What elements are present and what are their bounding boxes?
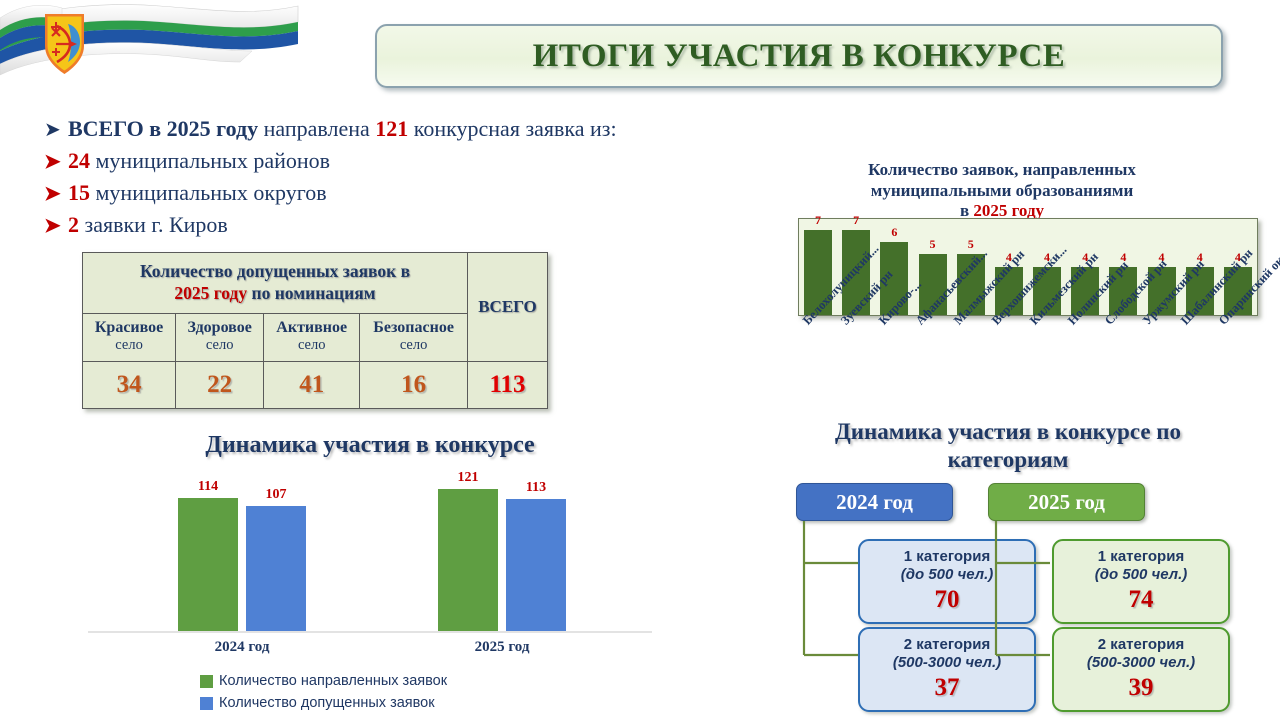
bullet-arrow-icon: ➤ bbox=[44, 152, 68, 172]
chart-bar: 113 bbox=[506, 499, 566, 631]
municipalities-chart-xaxis: Белохолуницкий...Зуевский рнКирово-...Аф… bbox=[798, 318, 1268, 418]
nomination-sub: село bbox=[364, 337, 463, 354]
chart-bar: 107 bbox=[246, 506, 306, 631]
bullet-segment: направлена bbox=[264, 116, 376, 141]
category-value: 70 bbox=[866, 585, 1028, 615]
bar-value-label: 5 bbox=[930, 237, 936, 254]
category-box[interactable]: 1 категория(до 500 чел.)74 bbox=[1052, 539, 1230, 624]
table-total-value: 113 bbox=[468, 361, 548, 408]
category-column: 2025 год1 категория(до 500 чел.)742 кате… bbox=[984, 483, 1224, 521]
category-box[interactable]: 2 категория(500-3000 чел.)37 bbox=[858, 627, 1036, 712]
flag-ribbon-decoration bbox=[0, 0, 300, 95]
category-range: (до 500 чел.) bbox=[1060, 566, 1222, 584]
nomination-name: Активное bbox=[268, 319, 355, 337]
nomination-name: Красивое bbox=[87, 319, 171, 337]
categories-columns: 2024 год1 категория(до 500 чел.)702 кате… bbox=[752, 483, 1264, 713]
municipalities-chart-title: Количество заявок, направленных муниципа… bbox=[802, 160, 1202, 222]
bar-value-label: 6 bbox=[891, 225, 897, 242]
dynamics-chart-xaxis: 2024 год2025 год bbox=[88, 639, 652, 665]
bullet-item: ➤ВСЕГО в 2025 году направлена 121 конкур… bbox=[44, 114, 744, 143]
bullet-segment: муниципальных районов bbox=[90, 148, 330, 173]
bar-value-label: 113 bbox=[506, 480, 566, 499]
bullet-arrow-icon: ➤ bbox=[44, 120, 68, 140]
category-range: (500-3000 чел.) bbox=[866, 654, 1028, 672]
table-title-part1: Количество допущенных заявок в bbox=[140, 261, 410, 281]
table-column-header: Активноесело bbox=[264, 313, 360, 361]
legend-label: Количество допущенных заявок bbox=[219, 695, 435, 711]
category-label: 2 категория bbox=[866, 636, 1028, 654]
table-header-row: Количество допущенных заявок в 2025 году… bbox=[83, 253, 548, 314]
category-value: 74 bbox=[1060, 585, 1222, 615]
bullet-segment: заявки г. Киров bbox=[79, 212, 228, 237]
bullet-item: ➤24 муниципальных районов bbox=[44, 146, 744, 175]
table-column-header: Безопасноесело bbox=[360, 313, 468, 361]
bar-value-label: 7 bbox=[853, 213, 859, 230]
dynamics-chart: Динамика участия в конкурсе 114107121113… bbox=[60, 432, 680, 719]
table-total-header: ВСЕГО bbox=[468, 253, 548, 362]
legend-item: Количество допущенных заявок bbox=[200, 695, 680, 711]
bullet-item: ➤2 заявки г. Киров bbox=[44, 210, 744, 239]
nominations-table: Количество допущенных заявок в 2025 году… bbox=[82, 252, 548, 409]
bullet-segment: 2 bbox=[68, 212, 79, 237]
table-column-header: Красивоесело bbox=[83, 313, 176, 361]
categories-diagram-title: Динамика участия в конкурсе по категория… bbox=[752, 418, 1264, 473]
category-label: 1 категория bbox=[866, 548, 1028, 566]
year-header[interactable]: 2025 год bbox=[988, 483, 1145, 521]
table-title-part2: по номинациям bbox=[247, 283, 375, 303]
page-title: ИТОГИ УЧАСТИЯ В КОНКУРСЕ bbox=[533, 38, 1066, 75]
bullet-list: ➤ВСЕГО в 2025 году направлена 121 конкур… bbox=[44, 114, 744, 242]
bar-value-label: 114 bbox=[178, 479, 238, 498]
bullet-text: 24 муниципальных районов bbox=[68, 146, 330, 175]
bullet-text: 15 муниципальных округов bbox=[68, 178, 327, 207]
bullet-segment: 121 bbox=[375, 116, 408, 141]
table-cell-value: 41 bbox=[264, 361, 360, 408]
bullet-segment: муниципальных округов bbox=[90, 180, 327, 205]
legend-label: Количество направленных заявок bbox=[219, 673, 447, 689]
table-title-cell: Количество допущенных заявок в 2025 году… bbox=[83, 253, 468, 314]
dynamics-chart-plot: 114107121113 bbox=[88, 473, 652, 633]
bullet-segment: ВСЕГО в 2025 году bbox=[68, 116, 264, 141]
dynamics-chart-legend: Количество направленных заявокКоличество… bbox=[200, 673, 680, 711]
nomination-name: Безопасное bbox=[364, 319, 463, 337]
bar-group: 114107 bbox=[178, 498, 306, 631]
cd-title-line2: категориям bbox=[948, 447, 1069, 472]
xaxis-label: 2024 год bbox=[177, 639, 307, 656]
bullet-segment: конкурсная заявка из: bbox=[408, 116, 616, 141]
legend-swatch-icon bbox=[200, 697, 213, 710]
bullet-arrow-icon: ➤ bbox=[44, 184, 68, 204]
cd-title-line1: Динамика участия в конкурсе по bbox=[835, 419, 1181, 444]
category-label: 1 категория bbox=[1060, 548, 1222, 566]
mc-title-line2: муниципальными образованиями bbox=[871, 181, 1134, 200]
bullet-item: ➤15 муниципальных округов bbox=[44, 178, 744, 207]
table-column-header: Здоровоесело bbox=[176, 313, 264, 361]
chart-bar: 121 bbox=[438, 489, 498, 631]
bar-value-label: 107 bbox=[246, 487, 306, 506]
chart-bar: 114 bbox=[178, 498, 238, 631]
table-title-year: 2025 году bbox=[174, 283, 247, 303]
category-value: 39 bbox=[1060, 673, 1222, 703]
categories-diagram: Динамика участия в конкурсе по категория… bbox=[752, 418, 1264, 718]
bar-value-label: 121 bbox=[438, 470, 498, 489]
nomination-sub: село bbox=[87, 337, 171, 354]
legend-swatch-icon bbox=[200, 675, 213, 688]
bullet-segment: 15 bbox=[68, 180, 90, 205]
category-box[interactable]: 2 категория(500-3000 чел.)39 bbox=[1052, 627, 1230, 712]
table-cell-value: 16 bbox=[360, 361, 468, 408]
year-header[interactable]: 2024 год bbox=[796, 483, 953, 521]
dynamics-chart-title: Динамика участия в конкурсе bbox=[60, 432, 680, 459]
slide-title-banner: ИТОГИ УЧАСТИЯ В КОНКУРСЕ bbox=[375, 24, 1223, 88]
nomination-sub: село bbox=[268, 337, 355, 354]
nomination-sub: село bbox=[180, 337, 259, 354]
table-cell-value: 22 bbox=[176, 361, 264, 408]
xaxis-label: 2025 год bbox=[437, 639, 567, 656]
mc-title-line1: Количество заявок, направленных bbox=[868, 160, 1136, 179]
table-cell-value: 34 bbox=[83, 361, 176, 408]
coat-of-arms-icon bbox=[45, 14, 84, 74]
category-range: (до 500 чел.) bbox=[866, 566, 1028, 584]
nomination-name: Здоровое bbox=[180, 319, 259, 337]
legend-item: Количество направленных заявок bbox=[200, 673, 680, 689]
table-values-row: 34224116113 bbox=[83, 361, 548, 408]
bullet-arrow-icon: ➤ bbox=[44, 216, 68, 236]
category-range: (500-3000 чел.) bbox=[1060, 654, 1222, 672]
bar-group: 121113 bbox=[438, 489, 566, 631]
category-box[interactable]: 1 категория(до 500 чел.)70 bbox=[858, 539, 1036, 624]
bullet-segment: 24 bbox=[68, 148, 90, 173]
flag-ribbon-svg bbox=[0, 0, 300, 95]
bullet-text: ВСЕГО в 2025 году направлена 121 конкурс… bbox=[68, 114, 617, 143]
category-value: 37 bbox=[866, 673, 1028, 703]
bar-value-label: 7 bbox=[815, 213, 821, 230]
category-label: 2 категория bbox=[1060, 636, 1222, 654]
municipalities-chart: Количество заявок, направленных муниципа… bbox=[732, 160, 1272, 420]
chart-baseline bbox=[88, 631, 652, 633]
bullet-text: 2 заявки г. Киров bbox=[68, 210, 228, 239]
